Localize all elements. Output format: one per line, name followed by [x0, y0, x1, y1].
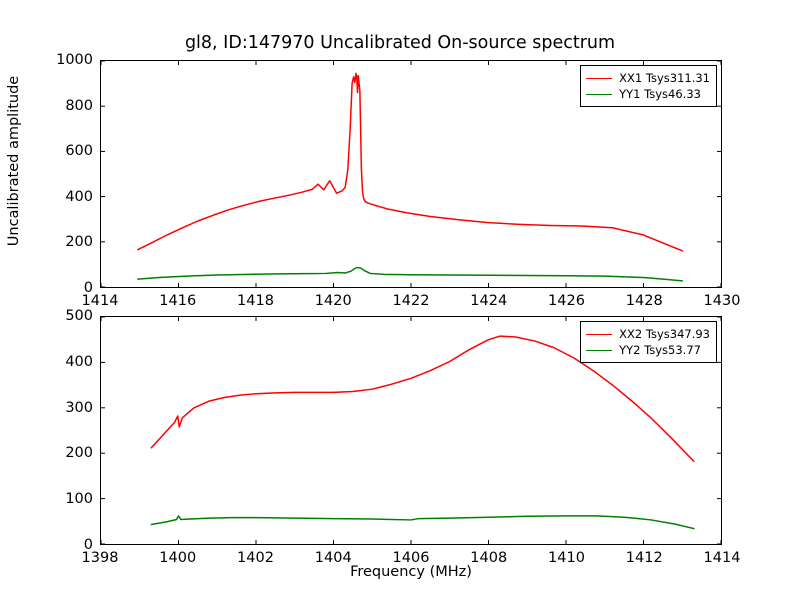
- x-tick-label: 1422: [393, 293, 430, 309]
- bottom-panel-legend: XX2 Tsys347.93YY2 Tsys53.77: [580, 321, 717, 363]
- x-tick-label: 1416: [159, 293, 196, 309]
- legend-entry: XX2 Tsys347.93: [586, 326, 710, 342]
- y-tick-label: 300: [38, 400, 93, 416]
- x-tick-label: 1428: [626, 293, 663, 309]
- y-tick-label: 400: [38, 189, 93, 205]
- legend-label: YY1 Tsys46.33: [619, 86, 701, 102]
- x-tick-label: 1402: [237, 550, 274, 566]
- y-tick-label: 100: [38, 491, 93, 507]
- y-tick-label: 0: [38, 537, 93, 553]
- x-tick-label: 1400: [159, 550, 196, 566]
- y-tick-label: 0: [38, 280, 93, 296]
- series-line: [138, 268, 682, 281]
- y-tick-label: 400: [38, 354, 93, 370]
- y-tick-label: 800: [38, 98, 93, 114]
- x-tick-label: 1408: [470, 550, 507, 566]
- legend-entry: YY1 Tsys46.33: [586, 86, 710, 102]
- legend-label: XX1 Tsys311.31: [619, 70, 710, 86]
- y-tick-label: 600: [38, 143, 93, 159]
- legend-label: YY2 Tsys53.77: [619, 342, 701, 358]
- y-tick-label: 200: [38, 234, 93, 250]
- x-tick-label: 1412: [626, 550, 663, 566]
- figure-title: gl8, ID:147970 Uncalibrated On-source sp…: [0, 33, 800, 53]
- legend-label: XX2 Tsys347.93: [619, 326, 710, 342]
- x-tick-label: 1410: [548, 550, 585, 566]
- legend-line-swatch: [586, 334, 612, 335]
- legend-entry: YY2 Tsys53.77: [586, 342, 710, 358]
- y-axis-label: Uncalibrated amplitude: [6, 0, 22, 371]
- x-axis-label: Frequency (MHz): [100, 564, 722, 580]
- x-tick-label: 1424: [470, 293, 507, 309]
- x-tick-label: 1420: [315, 293, 352, 309]
- x-tick-label: 1404: [315, 550, 352, 566]
- spectrum-figure: gl8, ID:147970 Uncalibrated On-source sp…: [0, 0, 800, 600]
- x-tick-label: 1414: [704, 550, 741, 566]
- y-tick-label: 200: [38, 445, 93, 461]
- legend-entry: XX1 Tsys311.31: [586, 70, 710, 86]
- legend-line-swatch: [586, 78, 612, 79]
- y-tick-label: 500: [38, 308, 93, 324]
- legend-line-swatch: [586, 94, 612, 95]
- legend-line-swatch: [586, 350, 612, 351]
- y-tick-label: 1000: [38, 52, 93, 68]
- x-tick-label: 1418: [237, 293, 274, 309]
- bottom-panel-axes: XX2 Tsys347.93YY2 Tsys53.77: [100, 316, 722, 545]
- x-tick-label: 1406: [393, 550, 430, 566]
- x-tick-label: 1430: [704, 293, 741, 309]
- series-line: [151, 516, 693, 529]
- top-panel-axes: XX1 Tsys311.31YY1 Tsys46.33: [100, 60, 722, 288]
- x-tick-label: 1426: [548, 293, 585, 309]
- top-panel-legend: XX1 Tsys311.31YY1 Tsys46.33: [580, 65, 717, 107]
